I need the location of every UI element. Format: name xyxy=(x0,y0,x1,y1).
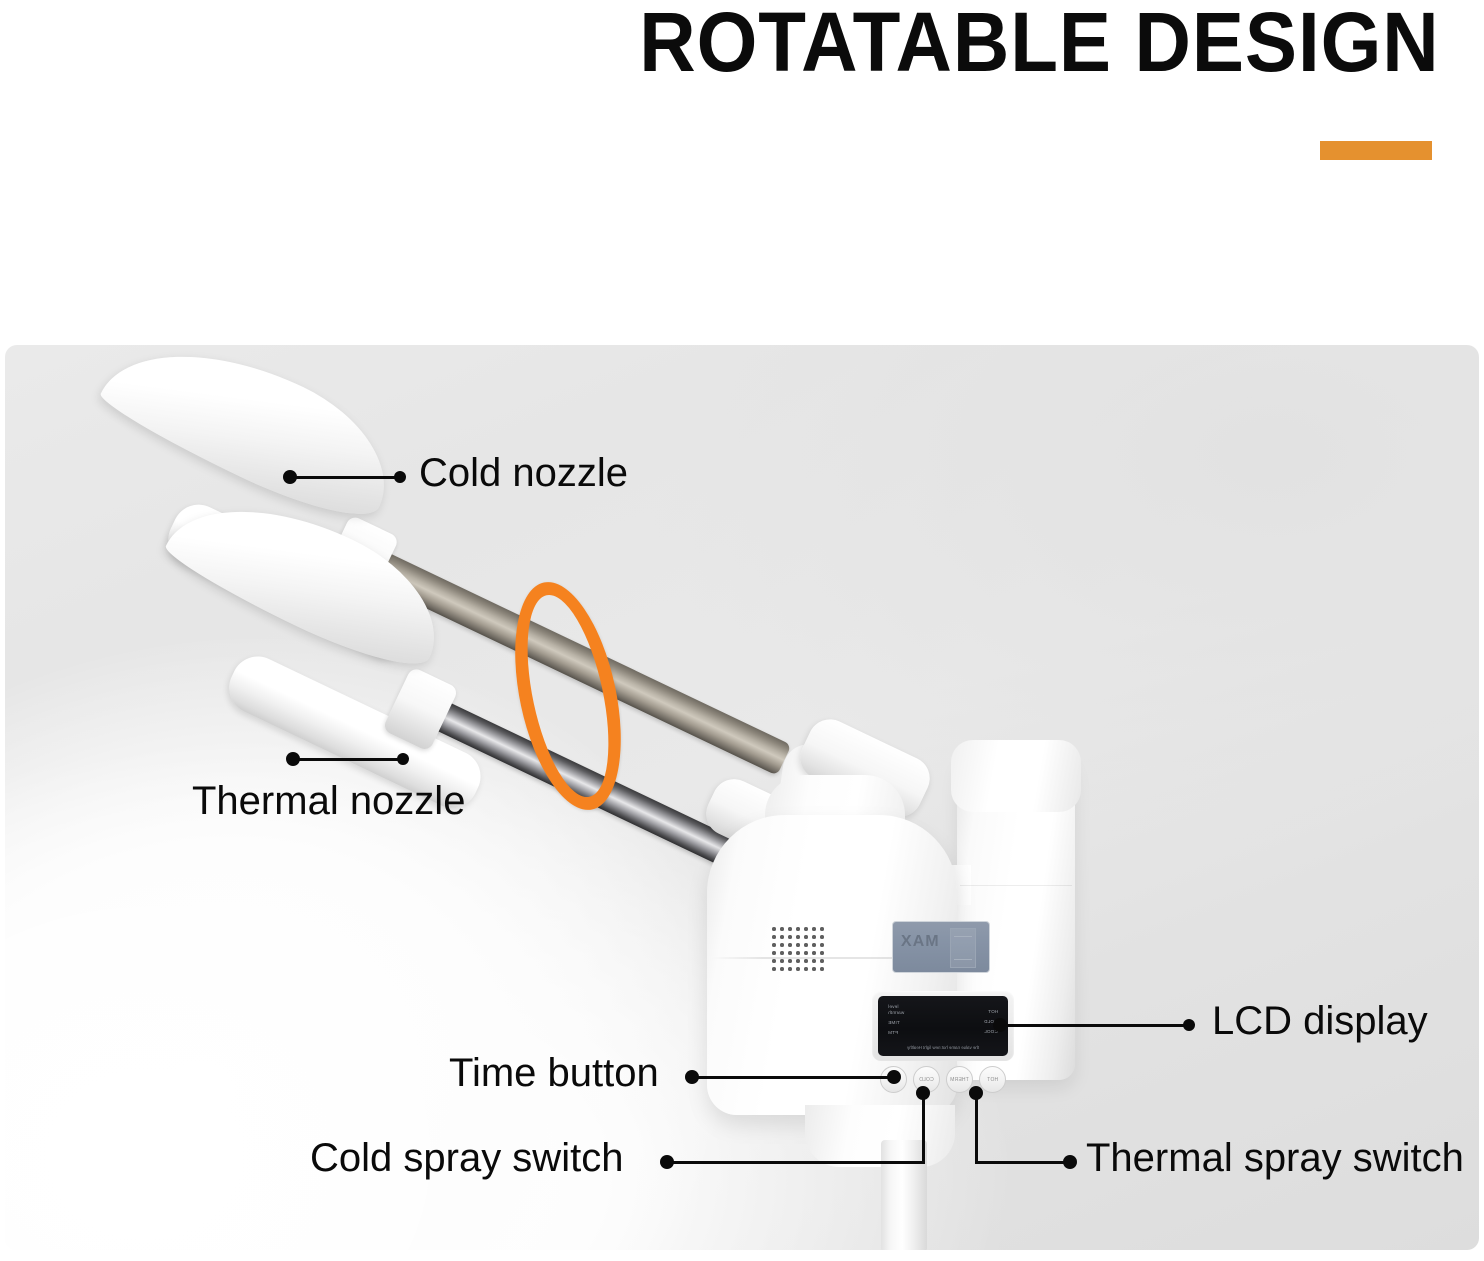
water-level-gauge xyxy=(950,928,976,968)
page-title: ROTATABLE DESIGN xyxy=(640,0,1440,88)
lcd-display-leader-line xyxy=(1000,1024,1190,1027)
lcd-line-left-4: PTM xyxy=(888,1030,898,1036)
water-tank-seam xyxy=(960,885,1072,886)
thermal-nozzle-end-dot xyxy=(397,753,409,765)
stand-pole xyxy=(881,1140,927,1250)
therm-button-label: THERM xyxy=(950,1077,969,1083)
thermal-nozzle-label: Thermal nozzle xyxy=(192,779,465,824)
lcd-line-right-1: HOT xyxy=(988,1009,998,1015)
accent-bar xyxy=(1320,141,1432,160)
header: ROTATABLE DESIGN xyxy=(0,0,1484,170)
lcd-display-screen: level warmth TIME PTM HOT COLD COOL the … xyxy=(878,996,1008,1056)
thermal-spray-anchor-dot xyxy=(969,1086,983,1100)
thermal-spray-switch-label: Thermal spray switch xyxy=(1086,1136,1464,1181)
lcd-line-left-2: warmth xyxy=(888,1010,904,1016)
water-level-window: MAX xyxy=(892,921,990,973)
water-tank-cap xyxy=(951,740,1081,812)
stand-collar xyxy=(805,1105,955,1167)
lcd-line-left-3: TIME xyxy=(888,1020,900,1026)
cold-nozzle-label: Cold nozzle xyxy=(419,451,628,496)
speaker-grille xyxy=(770,925,826,973)
lcd-footer-text: the value name hot new light Healthy xyxy=(878,1045,1008,1050)
time-button-leader-line xyxy=(692,1076,895,1079)
cold-spray-leader-horizontal xyxy=(667,1161,925,1164)
water-level-max-label: MAX xyxy=(900,933,939,951)
cold-nozzle-head xyxy=(94,345,411,536)
cold-nozzle-end-dot xyxy=(394,471,406,483)
thermal-spray-button[interactable]: HOT xyxy=(979,1066,1006,1093)
lcd-display-label: LCD display xyxy=(1212,999,1428,1044)
cold-spray-switch-label: Cold spray switch xyxy=(310,1136,623,1181)
cold-nozzle-leader-line xyxy=(290,476,402,479)
thermal-spray-leader-vertical xyxy=(975,1092,978,1162)
cold-spray-leader-vertical xyxy=(922,1092,925,1162)
time-button-anchor-dot xyxy=(887,1070,901,1084)
thermal-nozzle-leader-line xyxy=(293,758,405,761)
cold-spray-anchor-dot xyxy=(916,1086,930,1100)
lcd-display-end-dot xyxy=(1183,1019,1195,1031)
thermal-spray-leader-horizontal xyxy=(975,1161,1070,1164)
hot-button-label: HOT xyxy=(987,1077,998,1083)
time-button-label: Time button xyxy=(449,1051,659,1096)
cold-button-label: COLD xyxy=(919,1077,934,1083)
